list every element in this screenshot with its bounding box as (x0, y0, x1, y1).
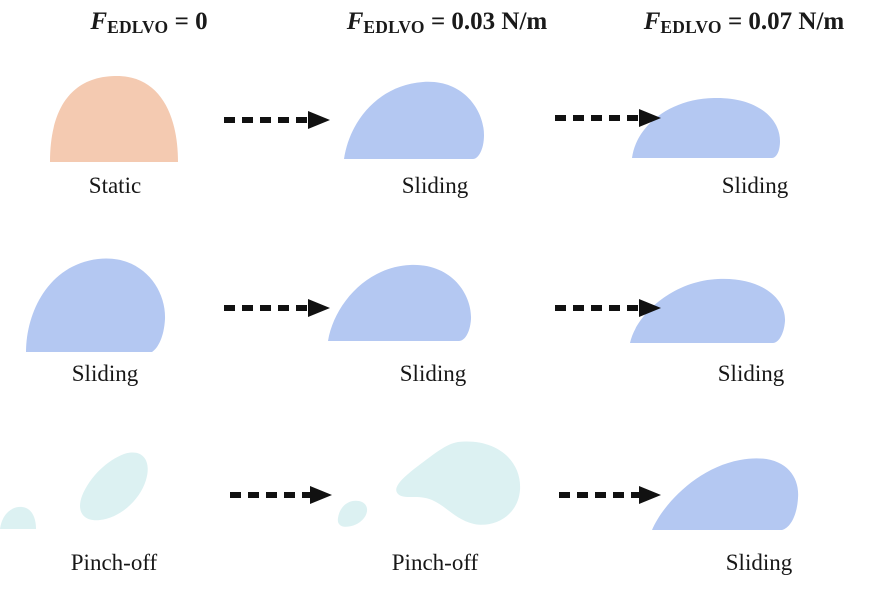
droplet-shape-r1c1 (298, 243, 596, 361)
droplet-state-label-r1c0: Sliding (0, 361, 254, 387)
header-subscript-2: EDLVO (660, 17, 721, 37)
droplet-state-label-r1c1: Sliding (284, 361, 582, 387)
header-symbol-2: F (644, 8, 661, 35)
droplet-cell-r0c1: Sliding (298, 55, 596, 199)
droplet-path-r0c0 (50, 76, 178, 162)
satellite-droplet-path-r2c0 (0, 507, 36, 529)
transition-arrow-r0-c1-c2 (553, 106, 663, 130)
column-header-2: FEDLVO = 0.07 N/m (596, 8, 892, 37)
arrow-head-icon (308, 299, 330, 317)
droplet-path-r2c0 (80, 452, 148, 520)
droplet-state-figure: FEDLVO = 0 FEDLVO = 0.03 N/m FEDLVO = 0.… (0, 0, 892, 590)
arrow-head-icon (310, 486, 332, 504)
droplet-state-label-r1c2: Sliding (602, 361, 892, 387)
transition-arrow-r1-c0-c1 (222, 296, 332, 320)
droplet-path-r2c2 (652, 458, 798, 530)
droplet-shape-r2c1 (298, 432, 596, 550)
droplet-state-label-r2c2: Sliding (610, 550, 892, 576)
header-value-2: = 0.07 N/m (722, 8, 845, 35)
transition-arrow-r0-c0-c1 (222, 108, 332, 132)
header-subscript-0: EDLVO (107, 17, 168, 37)
satellite-droplet-path-r2c1 (338, 501, 367, 527)
transition-arrow-r1-c1-c2 (553, 296, 663, 320)
droplet-state-label-r2c0: Pinch-off (0, 550, 263, 576)
droplet-cell-r2c1: Pinch-off (298, 432, 596, 576)
droplet-path-r1c1 (328, 265, 471, 341)
droplet-path-r0c1 (344, 82, 484, 159)
arrow-head-icon (639, 109, 661, 127)
header-symbol-0: F (90, 8, 107, 35)
droplet-state-label-r2c1: Pinch-off (286, 550, 584, 576)
droplet-path-r2c1 (396, 442, 520, 525)
droplet-state-label-r0c1: Sliding (286, 173, 584, 199)
header-subscript-1: EDLVO (363, 17, 424, 37)
header-symbol-1: F (347, 8, 364, 35)
transition-arrow-r2-c1-c2 (557, 483, 667, 507)
header-value-1: = 0.03 N/m (425, 8, 548, 35)
droplet-cell-r1c1: Sliding (298, 243, 596, 387)
droplet-state-label-r0c2: Sliding (606, 173, 892, 199)
arrow-head-icon (639, 299, 661, 317)
header-value-0: = 0 (168, 8, 207, 35)
column-header-1: FEDLVO = 0.03 N/m (298, 8, 596, 37)
arrow-head-icon (639, 486, 661, 504)
droplet-state-label-r0c0: Static (0, 173, 264, 199)
droplet-path-r1c0 (26, 258, 165, 352)
arrow-head-icon (308, 111, 330, 129)
column-header-0: FEDLVO = 0 (0, 8, 298, 37)
transition-arrow-r2-c0-c1 (228, 483, 338, 507)
droplet-shape-r0c1 (298, 55, 596, 173)
